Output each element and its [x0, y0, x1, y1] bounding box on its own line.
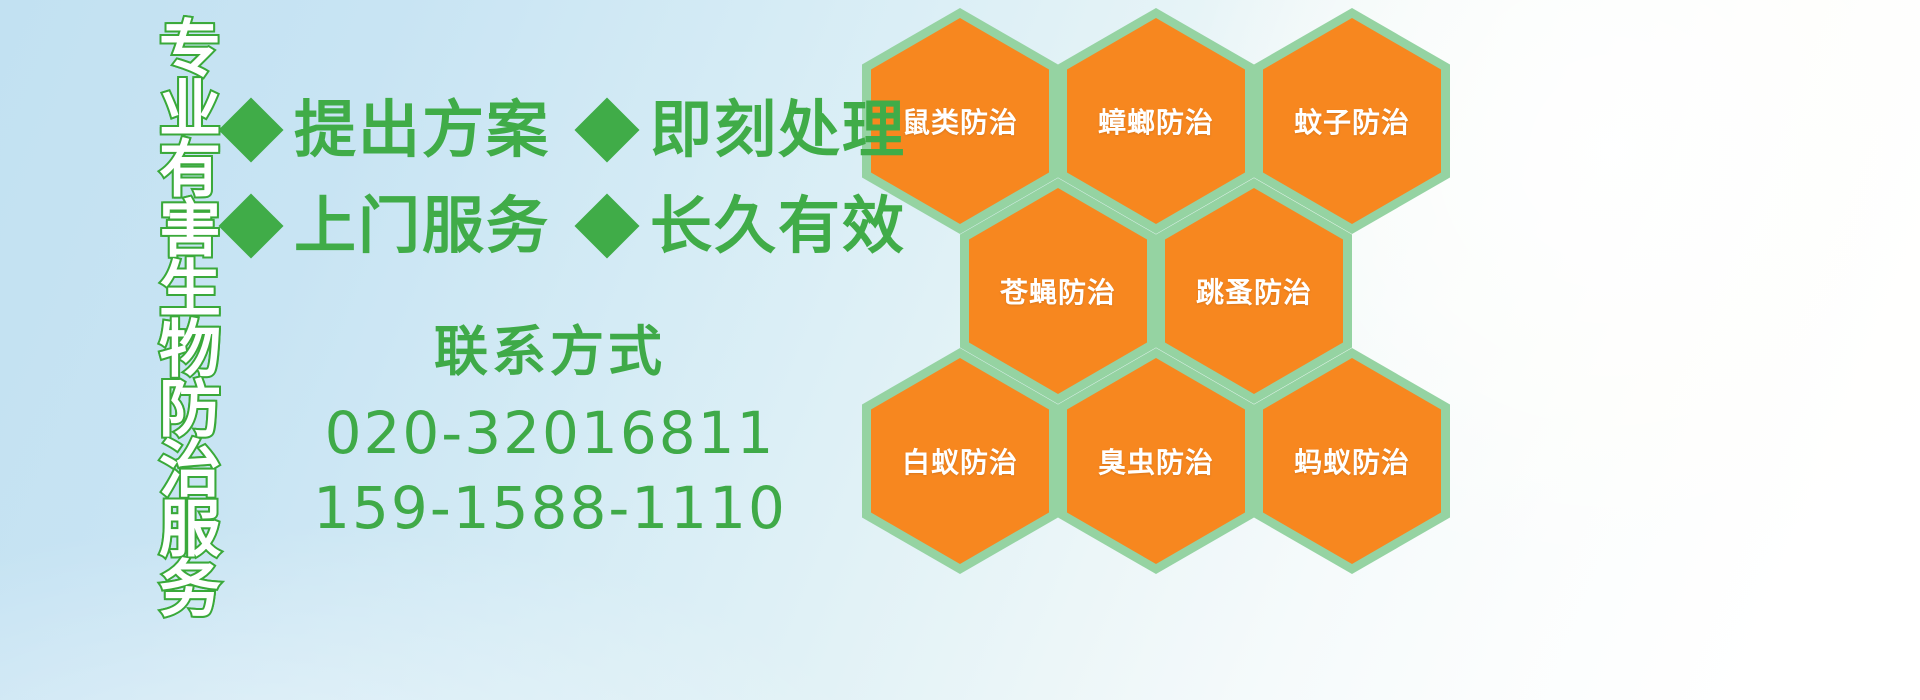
hex-inner: 白蚁防治 [871, 358, 1049, 564]
slogan-item-1: 提出方案 [228, 99, 550, 161]
slogan-block: 提出方案 即刻处理 上门服务 长久有效 [228, 82, 906, 274]
hex-label: 臭虫防治 [1098, 441, 1214, 481]
hex-label: 跳蚤防治 [1196, 271, 1312, 311]
slogan-row-2: 上门服务 长久有效 [228, 178, 906, 274]
slogan-item-2: 即刻处理 [584, 99, 906, 161]
diamond-icon [218, 193, 283, 258]
hex-inner: 臭虫防治 [1067, 358, 1245, 564]
diamond-icon [574, 193, 639, 258]
pest-control-banner: 专业有害生物防治服务 提出方案 即刻处理 上门服务 长久有效 [0, 0, 1920, 700]
service-hex-grid: 鼠类防治 蟑螂防治 蚊子防治 苍蝇防治 跳蚤防治 白蚁防治 [862, 0, 1462, 700]
hex-inner: 蚂蚁防治 [1263, 358, 1441, 564]
slogan-label: 上门服务 [294, 195, 550, 257]
slogan-label: 长久有效 [650, 195, 906, 257]
slogan-item-4: 长久有效 [584, 195, 906, 257]
phone-mobile[interactable]: 159-1588-1110 [300, 471, 800, 546]
hex-label: 蚂蚁防治 [1294, 441, 1410, 481]
slogan-label: 提出方案 [294, 99, 550, 161]
hex-inner: 苍蝇防治 [969, 188, 1147, 394]
hex-label: 鼠类防治 [902, 101, 1018, 141]
diamond-icon [218, 97, 283, 162]
contact-block: 联系方式 020-32016811 159-1588-1110 [300, 318, 800, 546]
hex-inner: 蚊子防治 [1263, 18, 1441, 224]
phone-landline[interactable]: 020-32016811 [300, 396, 800, 471]
contact-title: 联系方式 [300, 318, 800, 386]
hex-inner: 跳蚤防治 [1165, 188, 1343, 394]
diamond-icon [574, 97, 639, 162]
slogan-item-3: 上门服务 [228, 195, 550, 257]
hex-label: 蟑螂防治 [1098, 101, 1214, 141]
hex-label: 蚊子防治 [1294, 101, 1410, 141]
hex-label: 白蚁防治 [902, 441, 1018, 481]
slogan-label: 即刻处理 [650, 99, 906, 161]
hex-inner: 蟑螂防治 [1067, 18, 1245, 224]
vertical-title: 专业有害生物防治服务 [112, 16, 216, 576]
hex-label: 苍蝇防治 [1000, 271, 1116, 311]
slogan-row-1: 提出方案 即刻处理 [228, 82, 906, 178]
